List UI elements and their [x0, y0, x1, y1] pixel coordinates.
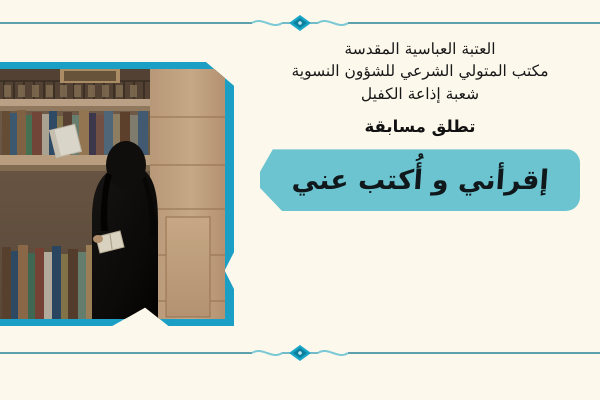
- library-photo: [0, 69, 225, 319]
- organization-line-3: شعبة إذاعة الكفيل: [250, 83, 590, 105]
- photo-frame: [0, 62, 234, 326]
- bottom-divider-ornament: [0, 340, 600, 366]
- organization-line-2: مكتب المتولي الشرعي للشؤون النسوية: [250, 60, 590, 82]
- competition-title-banner: إقرأني و أُكتب عني: [260, 149, 580, 211]
- text-column: العتبة العباسية المقدسة مكتب المتولي الش…: [250, 32, 590, 211]
- library-photo-artwork: [0, 69, 225, 319]
- announcement-label: تطلق مسابقة: [250, 117, 590, 136]
- competition-title-text: إقرأني و أُكتب عني: [291, 165, 550, 196]
- organization-line-1: العتبة العباسية المقدسة: [250, 38, 590, 60]
- poster-canvas: العتبة العباسية المقدسة مكتب المتولي الش…: [0, 0, 600, 400]
